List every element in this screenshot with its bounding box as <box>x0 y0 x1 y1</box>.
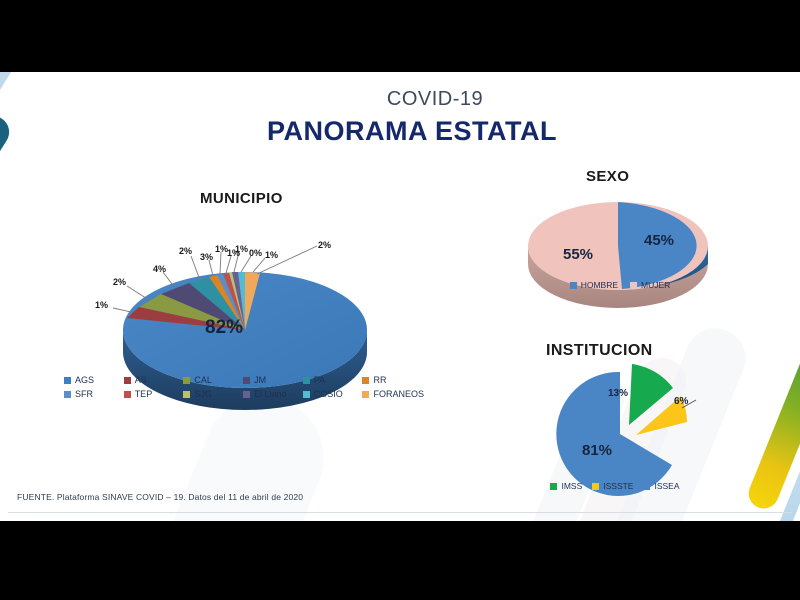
legend-item-as[interactable]: AS <box>124 375 180 385</box>
legend-label: AS <box>135 375 147 385</box>
municipio-callout-pa-top: 2% <box>179 246 192 256</box>
municipio-chart-title: MUNICIPIO <box>200 190 283 207</box>
municipio-callout-tep: 1% <box>235 244 248 254</box>
sexo-value-mujer: 55% <box>563 246 593 263</box>
legend-swatch-icon <box>124 377 131 384</box>
legend-swatch-icon <box>303 377 310 384</box>
institucion-value-issea: 81% <box>582 442 612 459</box>
institucion-value-issste: 6% <box>674 396 688 407</box>
letterbox-bottom <box>0 521 800 600</box>
legend-label: HOMBRE <box>581 280 618 290</box>
legend-swatch-icon <box>550 483 557 490</box>
header-subtitle: COVID-19 <box>70 88 800 111</box>
municipio-callout-pa: 3% <box>200 252 213 262</box>
legend-item-imss[interactable]: IMSS <box>550 481 582 491</box>
legend-swatch-icon <box>592 483 599 490</box>
legend-item-mujer[interactable]: MUJER <box>630 280 670 290</box>
municipio-callout-as: 1% <box>95 300 108 310</box>
legend-label: JM <box>254 375 266 385</box>
legend-item-pa[interactable]: PA <box>303 375 359 385</box>
legend-item-hombre[interactable]: HOMBRE <box>570 280 618 290</box>
legend-swatch-icon <box>362 377 369 384</box>
municipio-callout-sjg: 0% <box>249 248 262 258</box>
page-title: PANORAMA ESTATAL <box>24 116 800 147</box>
legend-item-jm[interactable]: JM <box>243 375 299 385</box>
legend-label: COSIO <box>314 389 343 399</box>
municipio-callout-elllano: 1% <box>265 250 278 260</box>
legend-item-issste[interactable]: ISSSTE <box>592 481 633 491</box>
legend-item-rr[interactable]: RR <box>362 375 424 385</box>
legend-item-sjg[interactable]: SJG <box>183 389 239 399</box>
legend-swatch-icon <box>64 391 71 398</box>
legend-swatch-icon <box>362 391 369 398</box>
legend-swatch-icon <box>183 391 190 398</box>
legend-item-tep[interactable]: TEP <box>124 389 180 399</box>
sexo-pie-chart: 55% 45% <box>518 184 718 314</box>
legend-swatch-icon <box>643 483 650 490</box>
source-footnote: FUENTE. Plataforma SINAVE COVID – 19. Da… <box>17 492 303 502</box>
legend-label: AGS <box>75 375 94 385</box>
legend-swatch-icon <box>64 377 71 384</box>
legend-label: ISSSTE <box>603 481 633 491</box>
letterbox-top <box>0 0 800 72</box>
legend-label: RR <box>373 375 386 385</box>
sexo-chart-title: SEXO <box>586 168 629 185</box>
institucion-value-imss: 13% <box>608 388 628 399</box>
legend-label: TEP <box>135 389 153 399</box>
slide-viewer: COVID-19 PANORAMA ESTATAL MUNICIPIO <box>0 0 800 600</box>
legend-item-ags[interactable]: AGS <box>64 375 120 385</box>
legend-item-sfr[interactable]: SFR <box>64 389 120 399</box>
legend-label: PA <box>314 375 325 385</box>
legend-label: CAL <box>194 375 212 385</box>
legend-item-cal[interactable]: CAL <box>183 375 239 385</box>
legend-label: SFR <box>75 389 93 399</box>
legend-item-cosio[interactable]: COSIO <box>303 389 359 399</box>
legend-label: IMSS <box>561 481 582 491</box>
legend-label: El Llano <box>254 389 287 399</box>
decor-swoosh-green-yellow <box>744 340 800 513</box>
municipio-callout-cal: 2% <box>113 277 126 287</box>
legend-swatch-icon <box>183 377 190 384</box>
legend-label: FORANEOS <box>373 389 424 399</box>
slide-canvas: COVID-19 PANORAMA ESTATAL MUNICIPIO <box>0 72 800 521</box>
legend-item-issea[interactable]: ISSEA <box>643 481 679 491</box>
legend-label: ISSEA <box>654 481 679 491</box>
legend-swatch-icon <box>303 391 310 398</box>
legend-swatch-icon <box>243 377 250 384</box>
footer-divider <box>8 512 792 513</box>
legend-item-foraneos[interactable]: FORANEOS <box>362 389 424 399</box>
municipio-main-value: 82% <box>205 317 243 339</box>
sexo-pie-svg <box>518 184 718 314</box>
legend-item-el-llano[interactable]: El Llano <box>243 389 299 399</box>
institucion-chart-title: INSTITUCION <box>546 342 653 360</box>
legend-swatch-icon <box>570 282 577 289</box>
sexo-value-hombre: 45% <box>644 232 674 249</box>
legend-swatch-icon <box>124 391 131 398</box>
municipio-callout-foraneos: 2% <box>318 240 331 250</box>
institucion-legend: IMSS ISSSTE ISSEA <box>525 481 705 491</box>
sexo-legend: HOMBRE MUJER <box>545 280 695 290</box>
legend-swatch-icon <box>243 391 250 398</box>
municipio-legend: AGS AS CAL JM PA RR <box>64 375 424 399</box>
legend-label: MUJER <box>641 280 670 290</box>
legend-label: SJG <box>194 389 212 399</box>
municipio-callout-jm: 4% <box>153 264 166 274</box>
legend-swatch-icon <box>630 282 637 289</box>
slide-header: COVID-19 PANORAMA ESTATAL <box>0 88 800 147</box>
